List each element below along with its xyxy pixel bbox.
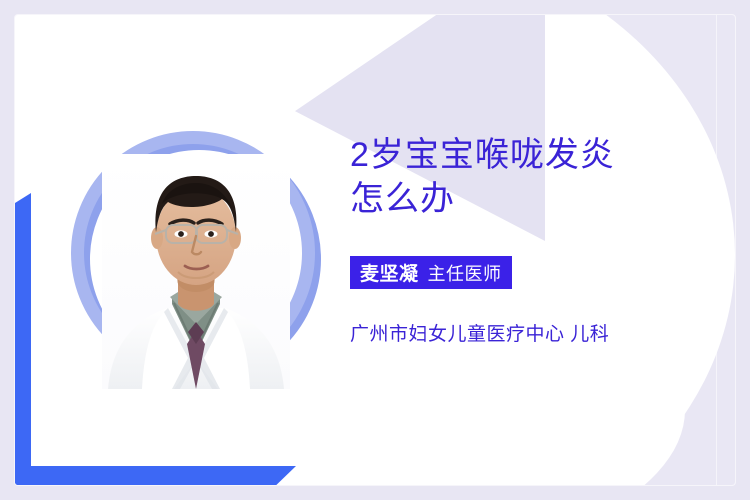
text-column: 2岁宝宝喉咙发炎 怎么办 麦坚凝 主任医师 广州市妇女儿童医疗中心 儿科 <box>350 15 680 485</box>
doctor-photo <box>102 154 290 389</box>
content-card: 2岁宝宝喉咙发炎 怎么办 麦坚凝 主任医师 广州市妇女儿童医疗中心 儿科 <box>15 15 735 485</box>
doctor-role: 主任医师 <box>428 260 502 286</box>
page-title: 2岁宝宝喉咙发炎 怎么办 <box>350 133 680 221</box>
avatar <box>71 127 329 389</box>
doctor-credential-badge: 麦坚凝 主任医师 <box>350 256 512 289</box>
doctor-affiliation: 广州市妇女儿童医疗中心 儿科 <box>350 319 609 346</box>
poster-canvas: 2岁宝宝喉咙发炎 怎么办 麦坚凝 主任医师 广州市妇女儿童医疗中心 儿科 <box>0 0 750 500</box>
accent-bar-left <box>15 193 31 485</box>
accent-bar-bottom <box>15 466 296 485</box>
card-edge-seam <box>716 15 717 485</box>
doctor-name: 麦坚凝 <box>360 259 419 286</box>
